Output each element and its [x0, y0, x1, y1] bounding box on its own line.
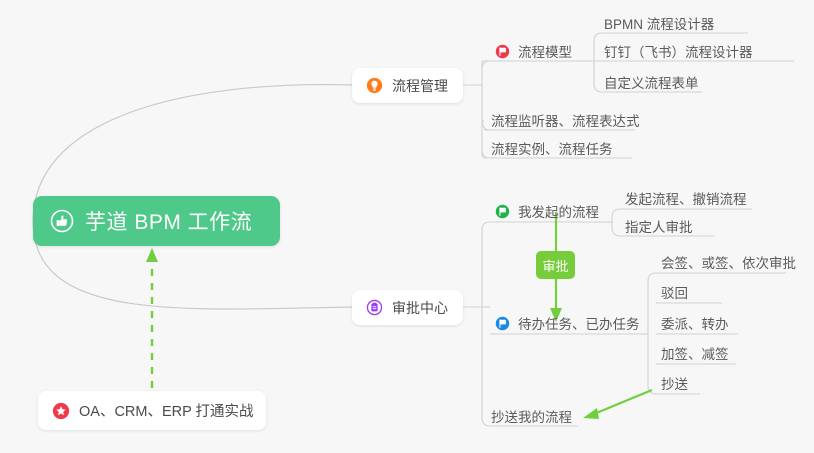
root-node[interactable]: 芋道 BPM 工作流 [33, 196, 280, 246]
branch-node-approval-center[interactable]: 审批中心 [352, 290, 463, 325]
label-custom-process-form: 自定义流程表单 [604, 72, 699, 92]
label-todo-done-tasks: 待办任务、已办任务 [518, 313, 640, 333]
label-process-instance-task: 流程实例、流程任务 [491, 138, 613, 158]
label-bpmn-designer: BPMN 流程设计器 [604, 13, 714, 33]
branch-label-approval-center: 审批中心 [392, 298, 448, 318]
thumbs-up-icon [50, 209, 74, 233]
label-carbon-copy: 抄送 [661, 373, 688, 393]
label-delegate-transfer: 委派、转办 [661, 313, 729, 333]
node-delegate-transfer[interactable]: 委派、转办 [661, 312, 729, 334]
mindmap-canvas: 芋道 BPM 工作流 流程管理 流程模型 BPMN 流程设计器 钉钉（飞书）流程… [0, 0, 814, 453]
node-assignee-approval[interactable]: 指定人审批 [625, 215, 693, 237]
node-todo-done-tasks[interactable]: 待办任务、已办任务 [495, 312, 640, 334]
label-countersign-orsign-sequential: 会签、或签、依次审批 [661, 252, 796, 272]
branch-label-process-management: 流程管理 [392, 76, 448, 96]
integration-dashed-arrow [146, 248, 158, 388]
node-cc-to-me-process[interactable]: 抄送我的流程 [491, 405, 572, 427]
node-reject[interactable]: 驳回 [661, 281, 688, 303]
label-reject: 驳回 [661, 282, 688, 302]
label-assignee-approval: 指定人审批 [625, 216, 693, 236]
node-my-initiated-process[interactable]: 我发起的流程 [495, 200, 599, 222]
node-custom-process-form[interactable]: 自定义流程表单 [604, 71, 699, 93]
node-start-cancel-process[interactable]: 发起流程、撤销流程 [625, 187, 747, 209]
node-process-listener-expression[interactable]: 流程监听器、流程表达式 [491, 109, 640, 131]
node-process-instance-task[interactable]: 流程实例、流程任务 [491, 137, 613, 159]
root-label: 芋道 BPM 工作流 [85, 206, 252, 236]
cc-flow-arrow [583, 390, 652, 419]
node-dingtalk-feishu-designer[interactable]: 钉钉（飞书）流程设计器 [604, 40, 753, 62]
node-process-model[interactable]: 流程模型 [495, 40, 572, 62]
lightbulb-icon [366, 77, 383, 94]
flag-icon [495, 204, 510, 219]
label-add-remove-sign: 加签、减签 [661, 343, 729, 363]
node-add-remove-sign[interactable]: 加签、减签 [661, 342, 729, 364]
label-oa-crm-erp-integration: OA、CRM、ERP 打通实战 [79, 400, 254, 421]
node-oa-crm-erp-integration[interactable]: OA、CRM、ERP 打通实战 [38, 391, 266, 430]
flag-icon [495, 316, 510, 331]
star-icon [52, 402, 70, 420]
label-process-listener-expression: 流程监听器、流程表达式 [491, 110, 640, 130]
approval-badge[interactable]: 审批 [536, 251, 575, 279]
document-icon [366, 299, 383, 316]
label-start-cancel-process: 发起流程、撤销流程 [625, 188, 747, 208]
label-process-model: 流程模型 [518, 41, 572, 61]
node-countersign-orsign-sequential[interactable]: 会签、或签、依次审批 [661, 251, 796, 273]
node-carbon-copy[interactable]: 抄送 [661, 372, 688, 394]
label-dingtalk-feishu-designer: 钉钉（飞书）流程设计器 [604, 41, 753, 61]
node-bpmn-designer[interactable]: BPMN 流程设计器 [604, 12, 714, 34]
flag-icon [495, 44, 510, 59]
label-cc-to-me-process: 抄送我的流程 [491, 406, 572, 426]
label-my-initiated-process: 我发起的流程 [518, 201, 599, 221]
branch-node-process-management[interactable]: 流程管理 [352, 68, 463, 103]
approval-badge-label: 审批 [542, 256, 568, 275]
